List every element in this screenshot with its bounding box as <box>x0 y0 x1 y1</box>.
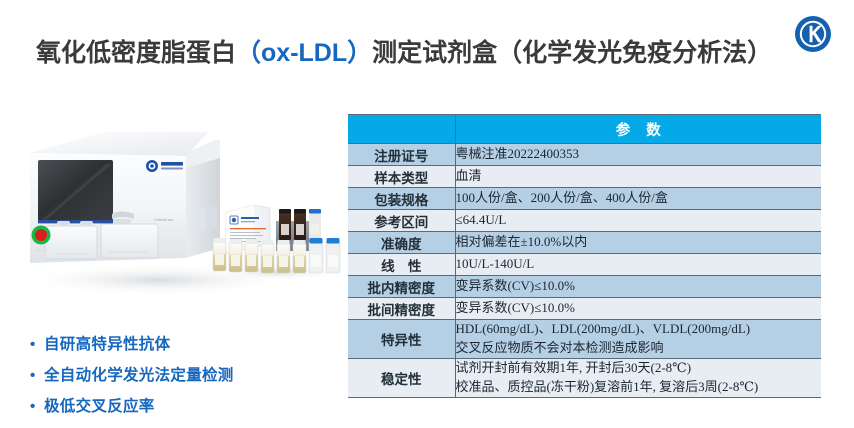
table-cell-line: 变异系数(CV)≤10.0% <box>456 277 822 296</box>
feature-item: • 自研高特异性抗体 <box>30 332 330 354</box>
table-cell-line: 100人份/盒、200人份/盒、400人份/盒 <box>456 189 822 208</box>
table-cell-line: 校准品、质控品(冻干粉)复溶前1年, 复溶后3周(2-8℃) <box>456 378 822 397</box>
bullet-icon: • <box>30 399 44 414</box>
table-cell-line: 交叉反应物质不会对本检测造成影响 <box>456 339 822 358</box>
feature-label: 极低交叉反应率 <box>44 394 155 416</box>
table-row: 注册证号粤械注准20222400353 <box>348 144 821 166</box>
table-cell-value: ≤64.4U/L <box>455 210 821 232</box>
table-cell-line: 试剂开封前有效期1年, 开封后30天(2-8℃) <box>456 359 822 378</box>
header-cell-parameter: 参 数 <box>455 115 821 144</box>
bullet-icon: • <box>30 368 44 383</box>
feature-item: • 全自动化学发光法定量检测 <box>30 363 330 385</box>
feature-label: 全自动化学发光法定量检测 <box>44 363 234 385</box>
page-title-prefix: 氧化低密度脂蛋白 <box>36 39 236 67</box>
table-cell-line: HDL(60mg/dL)、LDL(200mg/dL)、VLDL(200mg/dL… <box>456 320 822 339</box>
table-row: 参考区间≤64.4U/L <box>348 210 821 232</box>
table-cell-value: 血清 <box>455 166 821 188</box>
page-title: 氧化低密度脂蛋白（ox-LDL）测定试剂盒（化学发光免疫分析法） <box>36 33 776 69</box>
svg-text:ChemiLum: ChemiLum <box>154 217 174 222</box>
table-row: 稳定性试剂开封前有效期1年, 开封后30天(2-8℃)校准品、质控品(冻干粉)复… <box>348 359 821 398</box>
table-cell-line: 10U/L-140U/L <box>456 255 822 274</box>
table-cell-value: 相对偏差在±10.0%以内 <box>455 232 821 254</box>
table-cell-key: 稳定性 <box>348 359 455 398</box>
feature-item: • 极低交叉反应率 <box>30 394 330 416</box>
table-cell-key: 注册证号 <box>348 144 455 166</box>
table-cell-value: 粤械注准20222400353 <box>455 144 821 166</box>
table-cell-key: 样本类型 <box>348 166 455 188</box>
table-cell-key: 参考区间 <box>348 210 455 232</box>
table-row: 批内精密度变异系数(CV)≤10.0% <box>348 276 821 298</box>
table-cell-line: 粤械注准20222400353 <box>456 145 822 164</box>
table-cell-key: 线 性 <box>348 254 455 276</box>
table-row: 批间精密度变异系数(CV)≤10.0% <box>348 298 821 320</box>
table-row: 包装规格100人份/盒、200人份/盒、400人份/盒 <box>348 188 821 210</box>
table-cell-key: 准确度 <box>348 232 455 254</box>
table-row: 线 性10U/L-140U/L <box>348 254 821 276</box>
header-cell-blank <box>348 115 455 144</box>
table-row: 样本类型血清 <box>348 166 821 188</box>
table-cell-value: 试剂开封前有效期1年, 开封后30天(2-8℃)校准品、质控品(冻干粉)复溶前1… <box>455 359 821 398</box>
page-title-highlight: （ox-LDL） <box>236 39 372 67</box>
table-cell-value: HDL(60mg/dL)、LDL(200mg/dL)、VLDL(200mg/dL… <box>455 320 821 359</box>
table-cell-key: 批内精密度 <box>348 276 455 298</box>
table-cell-key: 特异性 <box>348 320 455 359</box>
table-cell-key: 批间精密度 <box>348 298 455 320</box>
product-photo: ChemiLum <box>8 120 343 305</box>
table-cell-value: 变异系数(CV)≤10.0% <box>455 298 821 320</box>
table-cell-value: 100人份/盒、200人份/盒、400人份/盒 <box>455 188 821 210</box>
table-row: 准确度相对偏差在±10.0%以内 <box>348 232 821 254</box>
table-cell-line: 血清 <box>456 167 822 186</box>
table-cell-key: 包装规格 <box>348 188 455 210</box>
specification-table: 参 数 注册证号粤械注准20222400353样本类型血清包装规格100人份/盒… <box>348 114 821 398</box>
bullet-icon: • <box>30 337 44 352</box>
table-cell-line: 相对偏差在±10.0%以内 <box>456 233 822 252</box>
feature-list: • 自研高特异性抗体 • 全自动化学发光法定量检测 • 极低交叉反应率 <box>30 332 330 425</box>
circle-k-logo-icon <box>793 14 833 54</box>
table-cell-line: 变异系数(CV)≤10.0% <box>456 299 822 318</box>
table-row: 特异性HDL(60mg/dL)、LDL(200mg/dL)、VLDL(200mg… <box>348 320 821 359</box>
table-cell-value: 10U/L-140U/L <box>455 254 821 276</box>
table-cell-line: ≤64.4U/L <box>456 211 822 230</box>
page-title-suffix: 测定试剂盒（化学发光免疫分析法） <box>372 39 772 67</box>
table-header-row: 参 数 <box>348 115 821 144</box>
feature-label: 自研高特异性抗体 <box>44 332 170 354</box>
table-cell-value: 变异系数(CV)≤10.0% <box>455 276 821 298</box>
